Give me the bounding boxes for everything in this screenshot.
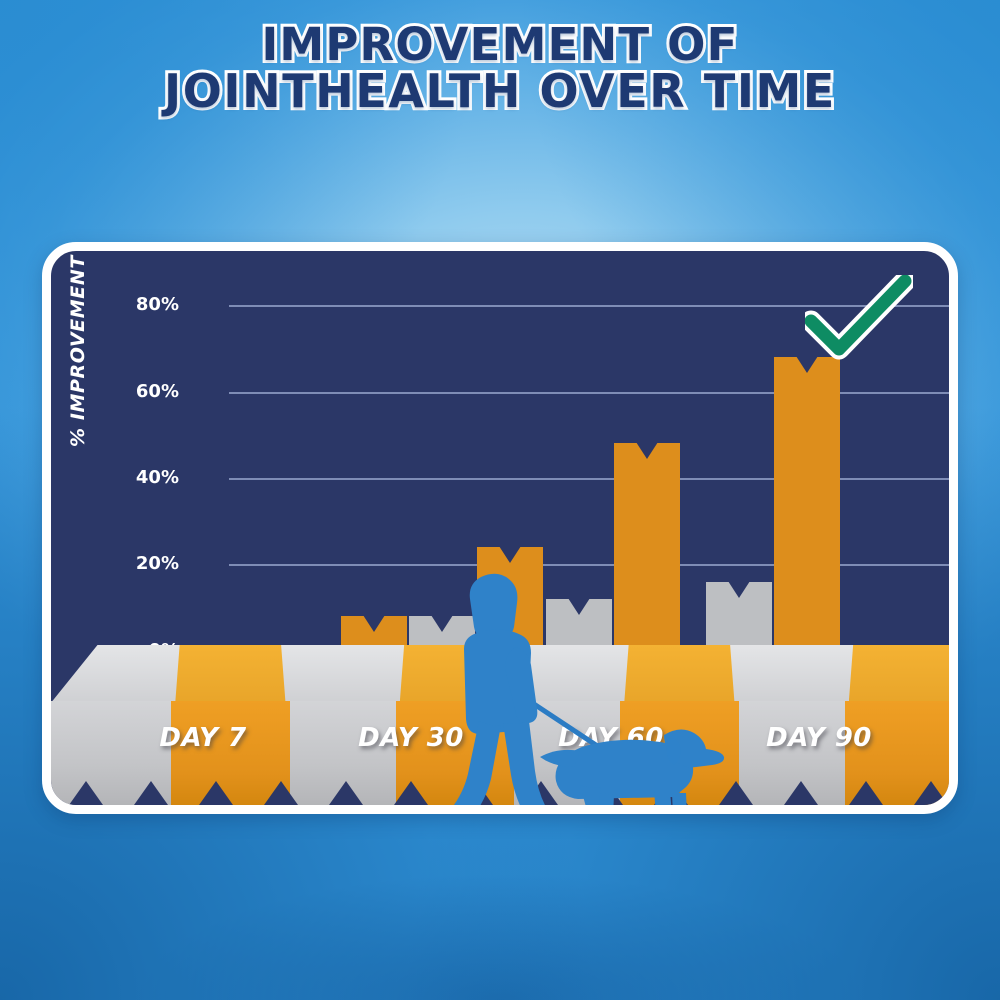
- check-mark-icon: [805, 275, 913, 361]
- stage-notch: [264, 781, 298, 805]
- dog-silhouette-icon: [536, 713, 726, 814]
- stage-stripe-top: [849, 645, 958, 703]
- stage-notch: [784, 781, 818, 805]
- y-axis-title: % IMPROVEMENT: [67, 242, 89, 447]
- bar-day-60-supplement: [614, 443, 680, 650]
- stage-notch: [329, 781, 363, 805]
- bar-body: [774, 357, 840, 651]
- bar-notch: [728, 581, 750, 598]
- bar-notch: [363, 615, 385, 632]
- stage-stripe-top: [624, 645, 734, 703]
- stage-notch: [199, 781, 233, 805]
- stage-notch: [134, 781, 168, 805]
- bar-day-90-placebo: [706, 582, 772, 651]
- gridline: [229, 392, 951, 394]
- y-axis-tick-label: 80%: [99, 294, 179, 315]
- stage-stripe-top: [175, 645, 285, 703]
- bar-day-90-supplement: [774, 357, 840, 651]
- title-line-1: IMPROVEMENT OF: [0, 22, 1000, 68]
- bar-notch: [499, 546, 521, 563]
- x-axis-label-day-7: DAY 7: [123, 723, 283, 753]
- chart-card: % IMPROVEMENT 0%20%40%60%80% DAY 7DAY 30…: [42, 242, 958, 814]
- chart-card-inner: % IMPROVEMENT 0%20%40%60%80% DAY 7DAY 30…: [51, 251, 949, 805]
- stage-notch: [914, 781, 948, 805]
- bar-notch: [636, 442, 658, 459]
- y-axis-tick-label: 60%: [99, 381, 179, 402]
- y-axis-tick-label: 20%: [99, 553, 179, 574]
- title-line-2: JOINTHEALTH OVER TIME: [0, 68, 1000, 115]
- x-axis-label-day-90: DAY 90: [739, 723, 899, 753]
- gridline: [229, 478, 951, 480]
- page-title: IMPROVEMENT OF JOINTHEALTH OVER TIME: [0, 22, 1000, 116]
- stage-notch: [849, 781, 883, 805]
- infographic-page: IMPROVEMENT OF JOINTHEALTH OVER TIME % I…: [0, 0, 1000, 1000]
- gridline: [229, 564, 951, 566]
- bar-body: [614, 443, 680, 650]
- y-axis-tick-label: 40%: [99, 467, 179, 488]
- stage-notch: [69, 781, 103, 805]
